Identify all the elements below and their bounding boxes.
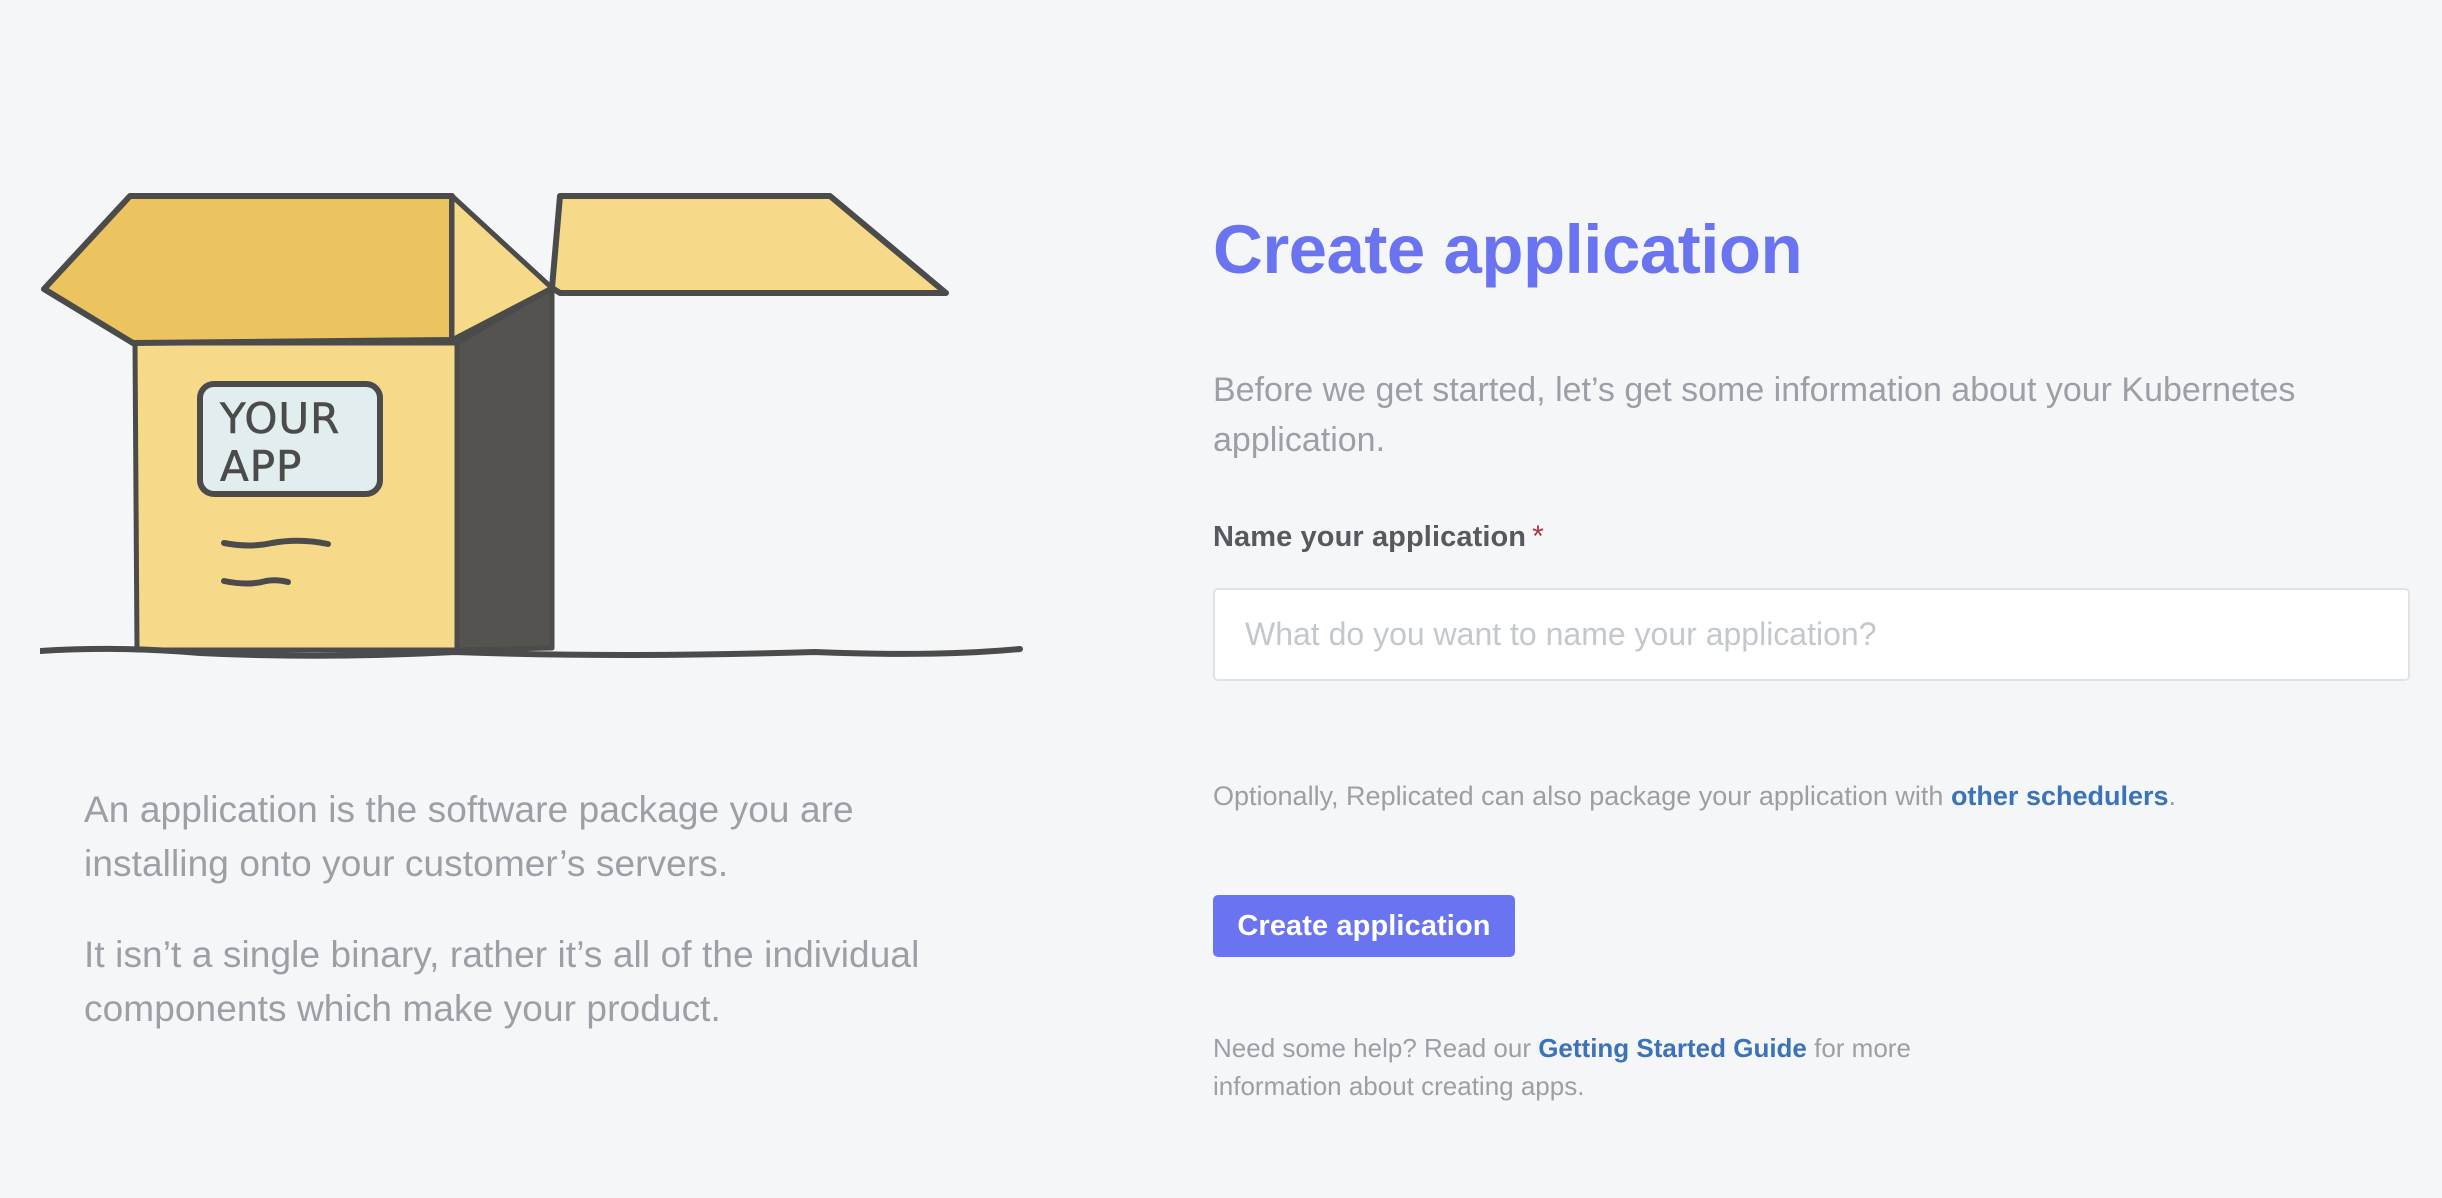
left-paragraph-2: It isn’t a single binary, rather it’s al… — [84, 928, 1004, 1035]
help-text: Need some help? Read our Getting Started… — [1213, 1030, 1973, 1105]
create-application-button[interactable]: Create application — [1213, 895, 1515, 957]
other-schedulers-note-prefix: Optionally, Replicated can also package … — [1213, 781, 1951, 811]
left-info-column: YOUR APP An application is the software … — [0, 0, 1130, 1198]
label-text-your: YOUR — [219, 394, 340, 443]
left-paragraph-1: An application is the software package y… — [84, 783, 1004, 890]
page-subtitle: Before we get started, let’s get some in… — [1213, 365, 2348, 466]
name-field-label: Name your application* — [1213, 520, 1544, 554]
open-cardboard-box-illustration: YOUR APP — [40, 190, 1070, 735]
other-schedulers-note-suffix: . — [2169, 781, 2177, 811]
create-application-form-column: Create application Before we get started… — [1213, 0, 2413, 1198]
other-schedulers-link[interactable]: other schedulers — [1951, 781, 2169, 811]
label-text-app: APP — [220, 442, 302, 491]
name-field-label-text: Name your application — [1213, 521, 1526, 553]
box-flap-right — [552, 196, 946, 293]
box-dash-line-2 — [224, 580, 288, 583]
left-description-text: An application is the software package y… — [84, 783, 1004, 1036]
page-title: Create application — [1213, 215, 1802, 284]
application-name-input[interactable] — [1213, 588, 2410, 681]
getting-started-guide-link[interactable]: Getting Started Guide — [1538, 1033, 1807, 1063]
box-side-panel — [457, 288, 552, 650]
other-schedulers-note: Optionally, Replicated can also package … — [1213, 778, 2176, 816]
create-application-page: YOUR APP An application is the software … — [0, 0, 2442, 1198]
required-asterisk: * — [1532, 520, 1544, 553]
box-flap-left — [44, 196, 452, 343]
help-text-prefix: Need some help? Read our — [1213, 1033, 1538, 1063]
